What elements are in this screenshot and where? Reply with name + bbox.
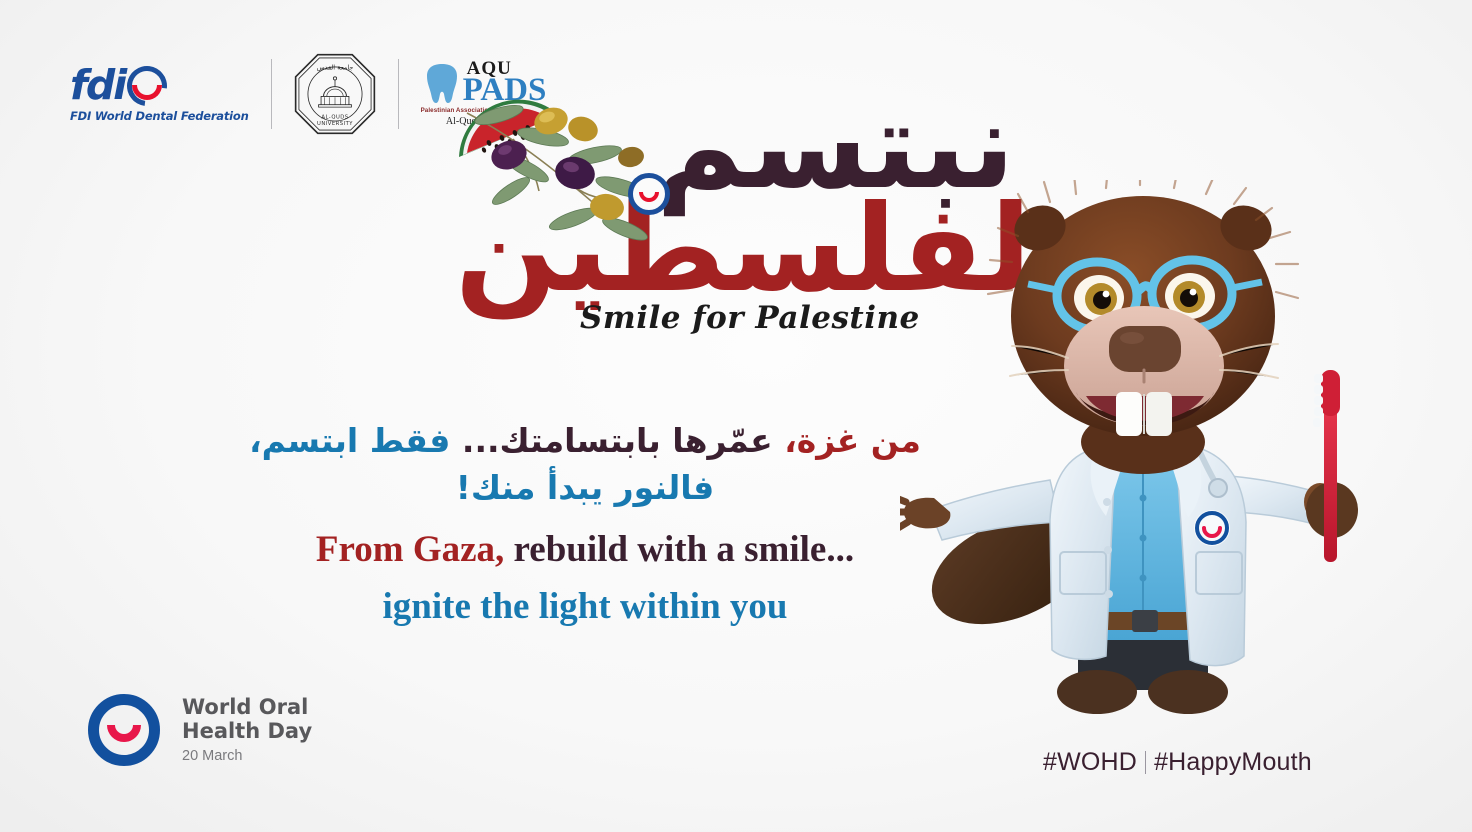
coat-wohd-badge-icon <box>1194 510 1230 546</box>
fdi-logo: fdi FDI World Dental Federation <box>70 65 249 123</box>
toothbrush-icon <box>1313 370 1340 562</box>
slogan-arabic-line2: فالنور يبدأ منك! <box>190 465 980 512</box>
svg-text:جامعة القدس: جامعة القدس <box>316 63 353 71</box>
wohd-text-block: World Oral Health Day 20 March <box>182 696 312 764</box>
beaver-foot-left <box>1057 670 1137 714</box>
wohd-ring-icon <box>88 694 160 766</box>
hashtag-row: #WOHD #HappyMouth <box>1043 748 1312 777</box>
slogan-english-part2: rebuild with a smile... <box>504 529 854 570</box>
logo-divider <box>398 59 399 129</box>
beaver-foot-right <box>1148 670 1228 714</box>
svg-text:UNIVERSITY: UNIVERSITY <box>317 121 353 127</box>
slogan-english-line2: ignite the light within you <box>190 579 980 635</box>
slogan-arabic-part2: عمّرها بابتسامتك... <box>450 421 784 460</box>
hashtag-wohd: #WOHD <box>1043 748 1137 777</box>
slogan-block: من غزة، عمّرها بابتسامتك... فقط ابتسم، ف… <box>190 418 980 635</box>
slogan-arabic-part3: فقط ابتسم، <box>249 421 450 460</box>
slogan-arabic-line1: من غزة، عمّرها بابتسامتك... فقط ابتسم، <box>190 418 980 465</box>
svg-text:AL-QUDS: AL-QUDS <box>321 115 348 121</box>
slogan-english-part1: From Gaza, <box>316 529 504 570</box>
slogan-english-line1: From Gaza, rebuild with a smile... <box>190 522 980 578</box>
wohd-smile-badge-icon <box>628 173 670 215</box>
tooth-icon <box>425 62 459 104</box>
logo-divider <box>271 59 272 129</box>
hashtag-divider <box>1145 751 1146 774</box>
beaver-front-teeth <box>1116 392 1172 436</box>
fdi-wordmark-row: fdi <box>70 65 167 106</box>
world-oral-health-day-logo: World Oral Health Day 20 March <box>88 694 312 766</box>
fdi-tagline: FDI World Dental Federation <box>70 109 249 123</box>
al-quds-university-seal-icon: جامعة القدس AL-QUDS UNIVERSITY <box>294 53 376 135</box>
wohd-title-line1: World Oral <box>182 696 312 720</box>
campaign-english-script: Smile for Palestine <box>580 300 920 336</box>
olive-branch-icon <box>455 95 665 255</box>
wohd-date: 20 March <box>182 748 312 764</box>
fdi-wordmark: fdi <box>70 65 125 106</box>
poster-canvas: fdi FDI World Dental Federation <box>0 0 1472 832</box>
beaver-nose <box>1109 326 1181 372</box>
hashtag-happymouth: #HappyMouth <box>1154 748 1312 777</box>
fdi-smile-icon <box>127 66 167 106</box>
wohd-title-line2: Health Day <box>182 720 312 744</box>
beaver-dentist-mascot <box>900 180 1400 720</box>
